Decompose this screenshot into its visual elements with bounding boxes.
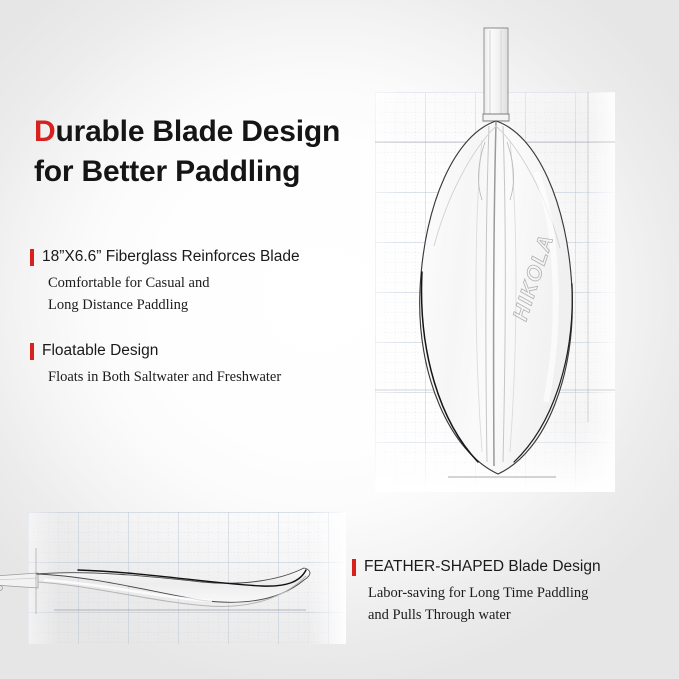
headline-accent-letter: D	[34, 115, 55, 148]
feature-block-feather-shaped: FEATHER-SHAPED Blade Design Labor-saving…	[352, 558, 601, 627]
feature-description-line: and Pulls Through water	[368, 604, 601, 626]
feature-title: Floatable Design	[42, 342, 158, 360]
red-marker-icon	[352, 559, 356, 576]
feature-description-line: Floats in Both Saltwater and Freshwater	[48, 366, 281, 388]
headline-line-1: Durable Blade Design	[34, 112, 384, 152]
feature-description-line: Long Distance Paddling	[48, 294, 300, 316]
headline-line-1-rest: urable Blade Design	[55, 115, 340, 148]
feature-title: FEATHER-SHAPED Blade Design	[364, 558, 601, 576]
feature-description-line: Comfortable for Casual and	[48, 272, 300, 294]
feature-block-fiberglass: 18”X6.6” Fiberglass Reinforces Blade Com…	[30, 248, 300, 317]
red-marker-icon	[30, 249, 34, 266]
feature-block-floatable: Floatable Design Floats in Both Saltwate…	[30, 342, 281, 388]
feature-heading: 18”X6.6” Fiberglass Reinforces Blade	[30, 248, 300, 266]
feature-description: Labor-saving for Long Time Paddling and …	[368, 582, 601, 627]
headline-line-2: for Better Paddling	[34, 152, 384, 192]
kayak-paddle-blade-side-profile	[0, 540, 334, 640]
page-title: Durable Blade Design for Better Paddling	[34, 112, 384, 191]
feature-heading: Floatable Design	[30, 342, 281, 360]
feature-title: 18”X6.6” Fiberglass Reinforces Blade	[42, 248, 300, 266]
feature-description-line: Labor-saving for Long Time Paddling	[368, 582, 601, 604]
feature-heading: FEATHER-SHAPED Blade Design	[352, 558, 601, 576]
red-marker-icon	[30, 343, 34, 360]
infographic-page: HIKOLA	[0, 0, 679, 679]
feature-description: Comfortable for Casual and Long Distance…	[48, 272, 300, 317]
kayak-paddle-blade-front-view: HIKOLA	[386, 22, 602, 500]
feature-description: Floats in Both Saltwater and Freshwater	[48, 366, 281, 388]
